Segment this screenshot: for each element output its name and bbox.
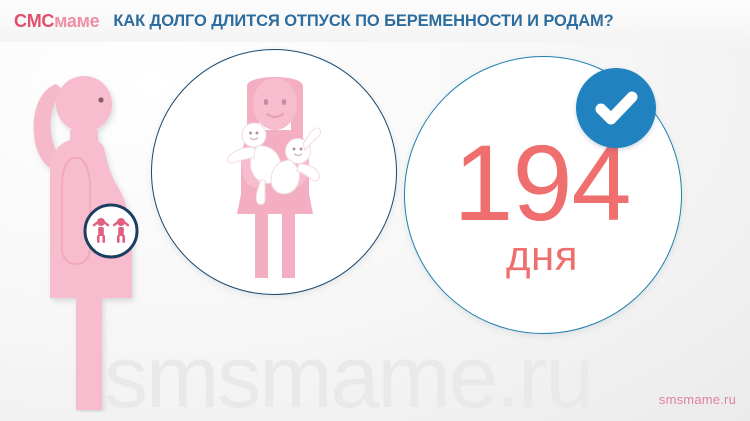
infographic-canvas: smsmame.ru <box>0 0 750 421</box>
pregnant-woman-icon <box>12 62 152 412</box>
header-bar: CMCмаме КАК ДОЛГО ДЛИТСЯ ОТПУСК ПО БЕРЕМ… <box>0 0 750 42</box>
watermark-text: smsmame.ru <box>104 333 593 421</box>
check-badge <box>576 68 656 148</box>
page-title: КАК ДОЛГО ДЛИТСЯ ОТПУСК ПО БЕРЕМЕННОСТИ … <box>113 12 613 31</box>
logo-secondary: маме <box>54 11 99 31</box>
twins-badge-icon <box>85 205 137 257</box>
mother-with-twins-icon <box>195 72 355 282</box>
footer-url[interactable]: smsmame.ru <box>659 392 736 407</box>
check-icon <box>590 82 642 134</box>
logo-primary: CMC <box>14 11 54 31</box>
site-logo[interactable]: CMCмаме <box>14 12 99 30</box>
